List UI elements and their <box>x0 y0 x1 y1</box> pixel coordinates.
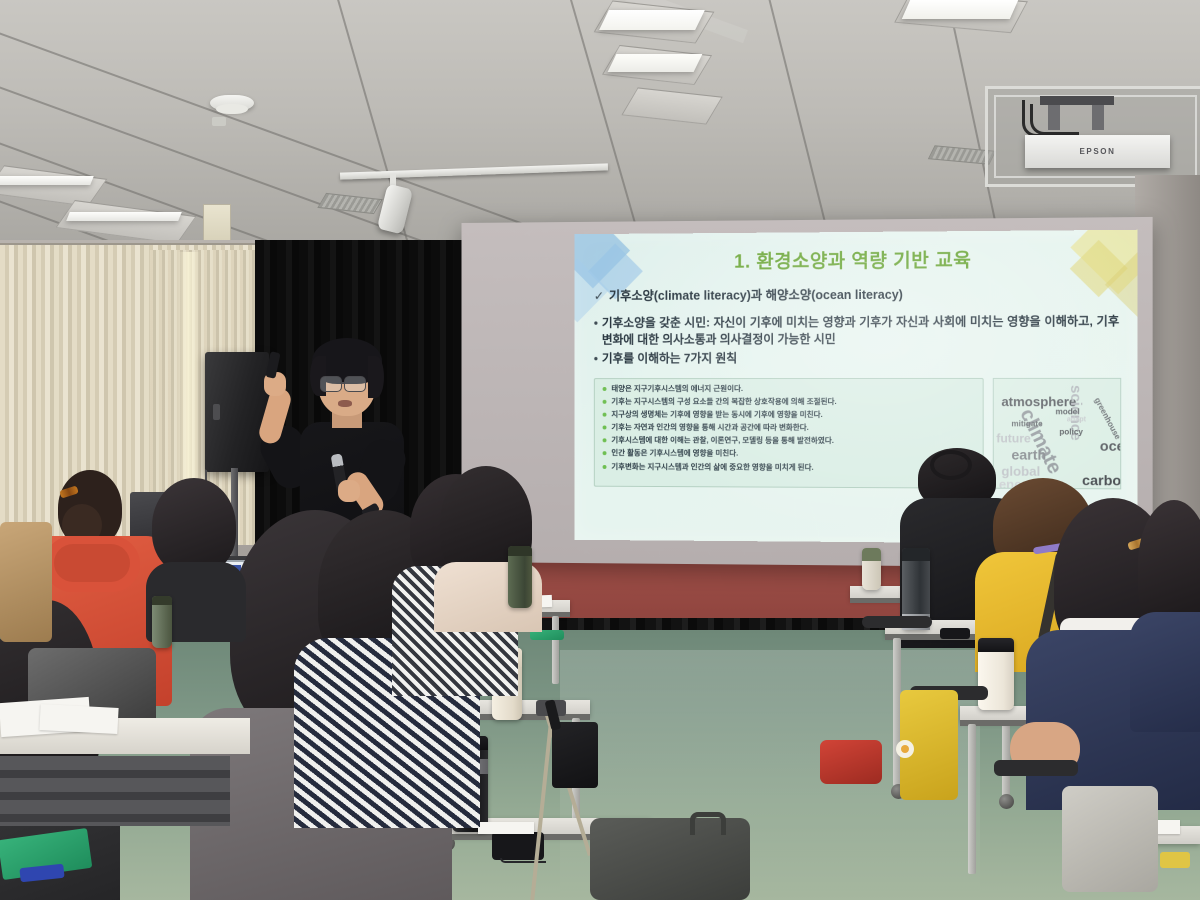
principle-bullet-icon <box>603 439 607 443</box>
light-track <box>340 163 608 179</box>
principle-bullet-icon <box>603 426 607 430</box>
wordcloud-word: adapt <box>1067 416 1086 423</box>
wordcloud-word: model <box>1056 407 1080 416</box>
tumbler-grey-left <box>152 596 172 648</box>
projector-brand-label: EPSON <box>1079 147 1115 156</box>
principle-bullet-icon <box>603 413 607 417</box>
wordcloud-word: future <box>996 431 1031 445</box>
audience-member-far-right <box>1138 500 1200 700</box>
air-vent <box>317 193 382 214</box>
presenter-mouth <box>338 400 352 407</box>
ceiling-mount-box <box>203 204 231 242</box>
glasses-icon <box>344 376 366 392</box>
slide-bullet-1: • 기후소양을 갖춘 시민: 자신이 기후에 미치는 영향과 기후가 자신과 사… <box>594 313 1119 348</box>
wordcloud-word: mitigate <box>1011 419 1042 428</box>
tumbler-olive-small <box>862 548 881 590</box>
principle-item: 기후시스템에 대한 이해는 관찰, 이론연구, 모델링 등을 통해 발전하였다. <box>603 437 975 446</box>
smoke-detector-icon <box>210 95 254 111</box>
backpack-floor-center <box>590 818 750 900</box>
principle-text: 기후는 지구시스템의 구성 요소들 간의 복잡한 상호작용에 의해 조절된다. <box>611 398 836 406</box>
presenter-hand-left <box>338 480 360 502</box>
principle-bullet-icon <box>603 400 607 404</box>
slide-body: ✓기후소양(climate literacy)과 해양소양(ocean lite… <box>594 283 1119 370</box>
ceiling-light-panel <box>0 165 107 206</box>
lecture-hall-photo: EPSON 1. 환경소양과 역량 기반 교육 ✓기후소양(climate li… <box>0 0 1200 900</box>
principle-item: 지구상의 생명체는 기후에 영향을 받는 동시에 기후에 영향을 미친다. <box>603 411 975 419</box>
bullet-dot-icon: • <box>594 315 598 348</box>
principle-bullet-icon <box>603 387 607 391</box>
slide-bullet-1-text: 기후소양을 갖춘 시민: 자신이 기후에 미치는 영향과 기후가 자신과 사회에… <box>602 313 1119 348</box>
red-case-floor <box>820 740 882 784</box>
principle-bullet-icon <box>603 452 607 456</box>
smartphone <box>940 628 970 639</box>
principle-item: 기후는 자연과 인간의 영향을 통해 시간과 공간에 따라 변화한다. <box>603 424 975 432</box>
wordcloud-word: ocean <box>1100 438 1121 454</box>
audience-member-back-left <box>152 478 242 598</box>
principle-text: 인간 활동은 기후시스템에 영향을 미친다. <box>611 450 738 458</box>
check-icon: ✓ <box>594 289 604 303</box>
glasses-icon <box>320 376 342 392</box>
slide-check-text: 기후소양(climate literacy)과 해양소양(ocean liter… <box>609 288 903 303</box>
bag-floor-stage <box>552 722 598 788</box>
principle-text: 태양은 지구기후시스템의 에너지 근원이다. <box>611 385 743 393</box>
tumbler-olive <box>508 546 532 608</box>
wordcloud-word: greenhouse <box>1093 396 1121 441</box>
spotlight-icon <box>377 184 413 235</box>
principle-text: 지구상의 생명체는 기후에 영향을 받는 동시에 기후에 영향을 미친다. <box>611 411 822 419</box>
principle-text: 기후는 자연과 인간의 영향을 통해 시간과 공간에 따라 변화한다. <box>611 424 808 432</box>
paper-label <box>478 822 534 834</box>
slide-title: 1. 환경소양과 역량 기반 교육 <box>574 244 1137 275</box>
principle-item: 기후는 지구시스템의 구성 요소들 간의 복잡한 상호작용에 의해 조절된다. <box>603 398 975 406</box>
principle-text: 기후변화는 지구시스템과 인간의 삶에 중요한 영향을 미치게 된다. <box>611 463 813 471</box>
projector-epson: EPSON <box>1025 135 1170 168</box>
slide-bullet-2: • 기후를 이해하는 7가지 원칙 <box>594 350 1119 367</box>
chair-armrest <box>994 760 1078 776</box>
principle-text: 기후시스템에 대한 이해는 관찰, 이론연구, 모델링 등을 통해 발전하였다. <box>611 437 833 445</box>
principle-item: 태양은 지구기후시스템의 에너지 근원이다. <box>603 385 975 393</box>
slide-check-line: ✓기후소양(climate literacy)과 해양소양(ocean lite… <box>594 283 1119 305</box>
bullet-dot-icon: • <box>594 351 598 367</box>
hair-scrunchie <box>930 450 972 480</box>
principle-bullet-icon <box>603 465 607 469</box>
wordcloud-word: policy <box>1059 427 1083 436</box>
slide-lower-panels: 태양은 지구기후시스템의 에너지 근원이다.기후는 지구시스템의 구성 요소들 … <box>594 378 1121 490</box>
curtain-daylight-glow <box>178 252 200 502</box>
slide-bullet-2-text: 기후를 이해하는 7가지 원칙 <box>602 350 737 367</box>
chair-right <box>1062 786 1158 892</box>
